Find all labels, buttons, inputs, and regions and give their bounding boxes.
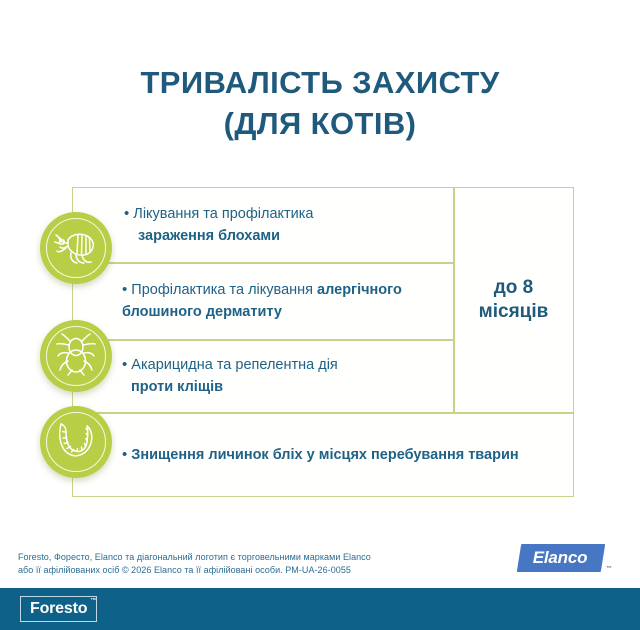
page-title-line-1: ТРИВАЛІСТЬ ЗАХИСТУ [0, 62, 640, 103]
duration-value: до 8 місяців [479, 276, 549, 324]
benefit-text-1: • Лікування та профілактика зараження бл… [122, 203, 314, 247]
benefit-text-3-bold: проти кліщів [122, 376, 338, 398]
benefit-text-4: • Знищення личинок бліх у місцях перебув… [122, 444, 519, 466]
legal-line-1: Foresto, Форесто, Elanco та діагональний… [18, 551, 478, 564]
benefit-text-4-bold: Знищення личинок бліх у місцях перебуван… [131, 447, 518, 463]
table-row: • Знищення личинок бліх у місцях перебув… [72, 412, 574, 497]
benefit-text-1-bold: зараження блохами [124, 225, 314, 247]
tick-icon [55, 332, 97, 381]
elanco-logo: Elanco ™ [519, 544, 603, 572]
duration-line-2: місяців [479, 301, 549, 322]
protection-duration-table: • Лікування та профілактика зараження бл… [72, 187, 574, 497]
benefit-text-2-regular: Профілактика та лікування [131, 282, 313, 298]
flea-icon-badge [40, 212, 112, 284]
page-title: ТРИВАЛІСТЬ ЗАХИСТУ (ДЛЯ КОТІВ) [0, 62, 640, 144]
foresto-logo: Foresto ™ [20, 596, 97, 622]
elanco-logo-text: Elanco [519, 544, 603, 572]
duration-line-1: до 8 [494, 277, 534, 298]
tick-icon-badge [40, 320, 112, 392]
elanco-trademark-symbol: ™ [606, 566, 612, 572]
legal-line-2: або її афілійованих осіб © 2026 Elanco т… [18, 564, 478, 577]
foresto-logo-text: Foresto ™ [30, 600, 87, 618]
bullet-point: • [122, 281, 127, 298]
benefit-text-1-regular: Лікування та профілактика [133, 206, 313, 222]
legal-disclaimer: Foresto, Форесто, Elanco та діагональний… [18, 551, 478, 576]
table-row: • Акарицидна та репелентна дія проти клі… [72, 339, 453, 412]
table-row: • Профілактика та лікування алергічного … [72, 262, 453, 339]
table-row: • Лікування та профілактика зараження бл… [72, 187, 453, 262]
bullet-point: • [122, 446, 127, 463]
flea-icon [53, 226, 99, 271]
page-title-line-2: (ДЛЯ КОТІВ) [0, 103, 640, 144]
benefit-text-3-regular: Акарицидна та репелентна дія [131, 357, 337, 373]
larva-icon-badge [40, 406, 112, 478]
benefit-text-2: • Профілактика та лікування алергічного … [122, 279, 443, 323]
benefit-text-3: • Акарицидна та репелентна дія проти клі… [122, 354, 338, 398]
bullet-point: • [124, 205, 129, 222]
foresto-trademark-symbol: ™ [90, 598, 96, 604]
duration-cell: до 8 місяців [453, 187, 574, 412]
larva-icon [53, 419, 99, 466]
bullet-point: • [122, 356, 127, 373]
